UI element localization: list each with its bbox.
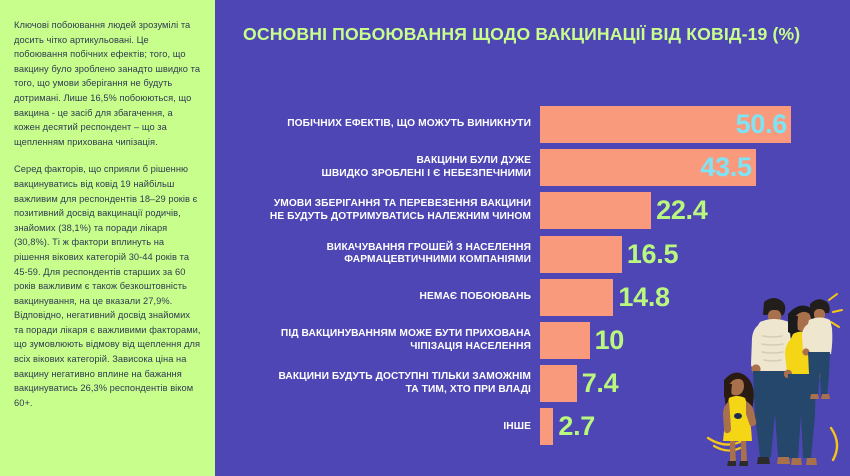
bar-category-label-line: ШВИДКО ЗРОБЛЕНІ І Є НЕБЕЗПЕЧНИМИ bbox=[225, 168, 531, 181]
bar-value-label: 14.8 bbox=[618, 279, 669, 316]
bar-row: ВИКАЧУВАННЯ ГРОШЕЙ З НАСЕЛЕННЯФАРМАЦЕВТИ… bbox=[225, 233, 845, 276]
bar-category-label-line: ФАРМАЦЕВТИЧНИМИ КОМПАНІЯМИ bbox=[225, 254, 531, 267]
bar-row: УМОВИ ЗБЕРІГАННЯ ТА ПЕРЕВЕЗЕННЯ ВАКЦИНИН… bbox=[225, 189, 845, 232]
family-of-four-illustration bbox=[700, 288, 850, 476]
infographic-root: Ключові побоювання людей зрозумілі та до… bbox=[0, 0, 850, 476]
bar-row: ВАКЦИНИ БУЛИ ДУЖЕШВИДКО ЗРОБЛЕНІ І Є НЕБ… bbox=[225, 146, 845, 189]
bar-track: 16.5 bbox=[540, 233, 845, 276]
bar-category-label-line: ВАКЦИНИ БУЛИ ДУЖЕ bbox=[225, 155, 531, 168]
bar-category-label: ВАКЦИНИ БУЛИ ДУЖЕШВИДКО ЗРОБЛЕНІ І Є НЕБ… bbox=[225, 155, 540, 180]
bar-category-label-line: ТА ТИМ, ХТО ПРИ ВЛАДІ bbox=[225, 384, 531, 397]
bar-track: 22.4 bbox=[540, 189, 845, 232]
bar-category-label-line: ВАКЦИНИ БУДУТЬ ДОСТУПНІ ТІЛЬКИ ЗАМОЖНІМ bbox=[225, 371, 531, 384]
bar bbox=[540, 192, 651, 229]
bar-value-label: 10 bbox=[595, 322, 624, 359]
bar bbox=[540, 365, 577, 402]
bar bbox=[540, 236, 622, 273]
bar-value-label: 43.5 bbox=[700, 149, 751, 186]
bar-category-label: ВИКАЧУВАННЯ ГРОШЕЙ З НАСЕЛЕННЯФАРМАЦЕВТИ… bbox=[225, 242, 540, 267]
bar-category-label-line: ПОБІЧНИХ ЕФЕКТІВ, ЩО МОЖУТЬ ВИНИКНУТИ bbox=[225, 118, 531, 131]
bar-category-label-line: УМОВИ ЗБЕРІГАННЯ ТА ПЕРЕВЕЗЕННЯ ВАКЦИНИ bbox=[225, 198, 531, 211]
bar bbox=[540, 279, 613, 316]
bar-category-label: ІНШЕ bbox=[225, 421, 540, 434]
bar bbox=[540, 408, 553, 445]
bar-value-label: 2.7 bbox=[558, 408, 595, 445]
bar-value-label: 50.6 bbox=[736, 106, 787, 143]
bar-category-label-line: ЧІПІЗАЦІЯ НАСЕЛЕННЯ bbox=[225, 341, 531, 354]
bar-track: 43.5 bbox=[540, 146, 845, 189]
bar-category-label-line: ПІД ВАКЦИНУВАННЯМ МОЖЕ БУТИ ПРИХОВАНА bbox=[225, 328, 531, 341]
bar-track: 50.6 bbox=[540, 103, 845, 146]
bar-category-label-line: ВИКАЧУВАННЯ ГРОШЕЙ З НАСЕЛЕННЯ bbox=[225, 242, 531, 255]
bar-category-label: УМОВИ ЗБЕРІГАННЯ ТА ПЕРЕВЕЗЕННЯ ВАКЦИНИН… bbox=[225, 198, 540, 223]
bar-category-label: НЕМАЄ ПОБОЮВАНЬ bbox=[225, 291, 540, 304]
bar-value-label: 16.5 bbox=[627, 236, 678, 273]
bar bbox=[540, 322, 590, 359]
bar-row: ПОБІЧНИХ ЕФЕКТІВ, ЩО МОЖУТЬ ВИНИКНУТИ50.… bbox=[225, 103, 845, 146]
bar-category-label-line: ІНШЕ bbox=[225, 421, 531, 434]
bar-category-label: ПОБІЧНИХ ЕФЕКТІВ, ЩО МОЖУТЬ ВИНИКНУТИ bbox=[225, 118, 540, 131]
bar-category-label: ПІД ВАКЦИНУВАННЯМ МОЖЕ БУТИ ПРИХОВАНАЧІП… bbox=[225, 328, 540, 353]
bar-category-label-line: НЕМАЄ ПОБОЮВАНЬ bbox=[225, 291, 531, 304]
bar-category-label-line: НЕ БУДУТЬ ДОТРИМУВАТИСЬ НАЛЕЖНИМ ЧИНОМ bbox=[225, 211, 531, 224]
bar-value-label: 22.4 bbox=[656, 192, 707, 229]
bar-value-label: 7.4 bbox=[582, 365, 619, 402]
bar-category-label: ВАКЦИНИ БУДУТЬ ДОСТУПНІ ТІЛЬКИ ЗАМОЖНІМТ… bbox=[225, 371, 540, 396]
girl-figure bbox=[723, 372, 756, 466]
